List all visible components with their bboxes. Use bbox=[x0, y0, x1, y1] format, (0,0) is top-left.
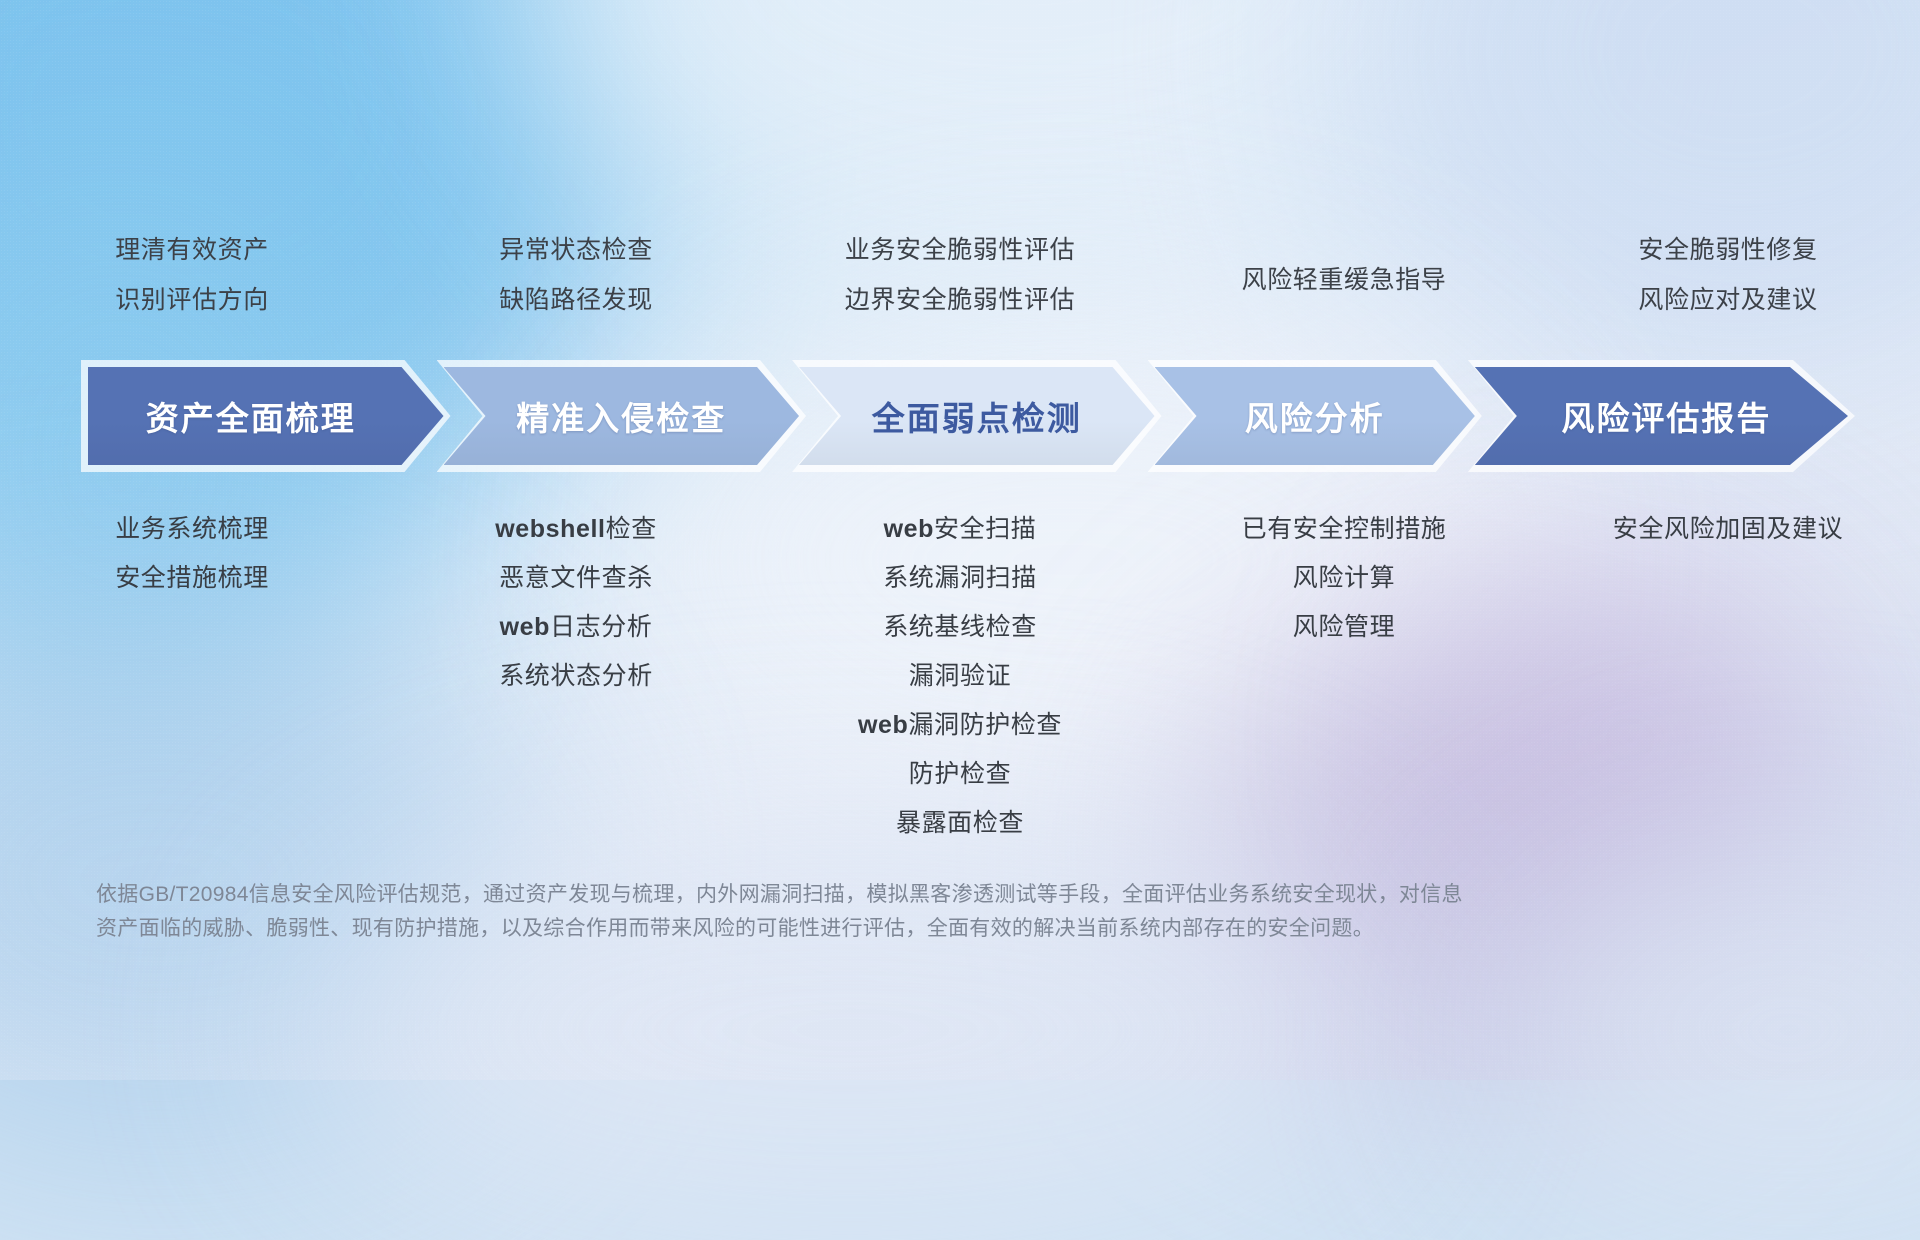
stage-weakness-detection-top-labels: 业务安全脆弱性评估边界安全脆弱性评估 bbox=[768, 225, 1152, 335]
stage-bottom-label: 暴露面检查 bbox=[896, 799, 1024, 848]
stage-intrusion-check-bottom-labels: webshell检查恶意文件查杀web日志分析系统状态分析 bbox=[384, 505, 768, 701]
stage-chevron-assessment-report[interactable]: 风险评估报告 bbox=[1475, 367, 1848, 465]
label-bold-prefix: web bbox=[500, 613, 550, 641]
stage-bottom-label: web安全扫描 bbox=[884, 505, 1037, 554]
chevron-label: 全面弱点检测 bbox=[872, 392, 1082, 440]
stage-bottom-label: 业务系统梳理 bbox=[115, 505, 269, 554]
stage-bottom-label: 安全风险加固及建议 bbox=[1613, 505, 1843, 554]
chevron-label: 风险分析 bbox=[1245, 392, 1385, 440]
stage-risk-analysis-top-labels: 风险轻重缓急指导 bbox=[1152, 225, 1536, 335]
stage-risk-analysis-bottom-labels: 已有安全控制措施风险计算风险管理 bbox=[1152, 505, 1536, 652]
label-text: 漏洞防护检查 bbox=[908, 711, 1062, 739]
stage-bottom-label: web日志分析 bbox=[500, 603, 653, 652]
chevron-label: 资产全面梳理 bbox=[146, 392, 356, 440]
stage-bottom-label: 漏洞验证 bbox=[909, 652, 1011, 701]
stage-top-label: 安全脆弱性修复 bbox=[1638, 225, 1817, 275]
stage-top-label: 理清有效资产 bbox=[115, 225, 269, 275]
process-diagram: 理清有效资产识别评估方向异常状态检查缺陷路径发现业务安全脆弱性评估边界安全脆弱性… bbox=[0, 0, 1920, 1080]
stage-top-labels-row: 理清有效资产识别评估方向异常状态检查缺陷路径发现业务安全脆弱性评估边界安全脆弱性… bbox=[0, 225, 1920, 335]
stage-weakness-detection-bottom-labels: web安全扫描系统漏洞扫描系统基线检查漏洞验证web漏洞防护检查防护检查暴露面检… bbox=[768, 505, 1152, 848]
stage-top-label: 缺陷路径发现 bbox=[499, 275, 653, 325]
stage-bottom-label: 安全措施梳理 bbox=[115, 554, 269, 603]
stage-bottom-label: web漏洞防护检查 bbox=[858, 701, 1062, 750]
label-text: 安全扫描 bbox=[934, 515, 1036, 543]
stage-chevron-band: 资产全面梳理精准入侵检查全面弱点检测风险分析风险评估报告 bbox=[88, 367, 1848, 465]
stage-top-label: 识别评估方向 bbox=[115, 275, 269, 325]
stage-assessment-report-top-labels: 安全脆弱性修复风险应对及建议 bbox=[1536, 225, 1920, 335]
footer-description: 依据GB/T20984信息安全风险评估规范，通过资产发现与梳理，内外网漏洞扫描，… bbox=[96, 878, 1656, 946]
label-bold-prefix: webshell bbox=[495, 515, 605, 543]
label-bold-prefix: web bbox=[884, 515, 934, 543]
stage-bottom-label: webshell检查 bbox=[495, 505, 657, 554]
chevron-label: 风险评估报告 bbox=[1561, 392, 1771, 440]
label-text: 日志分析 bbox=[550, 613, 652, 641]
label-bold-prefix: web bbox=[858, 711, 908, 739]
stage-bottom-labels-row: 业务系统梳理安全措施梳理webshell检查恶意文件查杀web日志分析系统状态分… bbox=[0, 505, 1920, 848]
stage-bottom-label: 已有安全控制措施 bbox=[1242, 505, 1447, 554]
stage-bottom-label: 风险管理 bbox=[1293, 603, 1395, 652]
stage-bottom-label: 防护检查 bbox=[909, 750, 1011, 799]
stage-top-label: 风险轻重缓急指导 bbox=[1242, 255, 1447, 305]
stage-top-label: 业务安全脆弱性评估 bbox=[845, 225, 1075, 275]
stage-intrusion-check-top-labels: 异常状态检查缺陷路径发现 bbox=[384, 225, 768, 335]
stage-asset-inventory-top-labels: 理清有效资产识别评估方向 bbox=[0, 225, 384, 335]
footer-line-2: 资产面临的威胁、脆弱性、现有防护措施，以及综合作用而带来风险的可能性进行评估，全… bbox=[96, 912, 1656, 946]
stage-chevron-risk-analysis[interactable]: 风险分析 bbox=[1155, 367, 1475, 465]
stage-bottom-label: 恶意文件查杀 bbox=[499, 554, 653, 603]
stage-top-label: 异常状态检查 bbox=[499, 225, 653, 275]
stage-bottom-label: 系统漏洞扫描 bbox=[883, 554, 1037, 603]
stage-top-label: 边界安全脆弱性评估 bbox=[845, 275, 1075, 325]
stage-bottom-label: 风险计算 bbox=[1293, 554, 1395, 603]
footer-line-1: 依据GB/T20984信息安全风险评估规范，通过资产发现与梳理，内外网漏洞扫描，… bbox=[96, 878, 1656, 912]
label-text: 检查 bbox=[606, 515, 657, 543]
stage-chevron-intrusion-check[interactable]: 精准入侵检查 bbox=[444, 367, 800, 465]
chevron-label: 精准入侵检查 bbox=[516, 392, 726, 440]
stage-bottom-label: 系统状态分析 bbox=[499, 652, 653, 701]
stage-assessment-report-bottom-labels: 安全风险加固及建议 bbox=[1536, 505, 1920, 554]
stage-chevron-weakness-detection[interactable]: 全面弱点检测 bbox=[799, 367, 1155, 465]
stage-chevron-asset-inventory[interactable]: 资产全面梳理 bbox=[88, 367, 444, 465]
stage-top-label: 风险应对及建议 bbox=[1638, 275, 1817, 325]
stage-bottom-label: 系统基线检查 bbox=[883, 603, 1037, 652]
stage-asset-inventory-bottom-labels: 业务系统梳理安全措施梳理 bbox=[0, 505, 384, 603]
